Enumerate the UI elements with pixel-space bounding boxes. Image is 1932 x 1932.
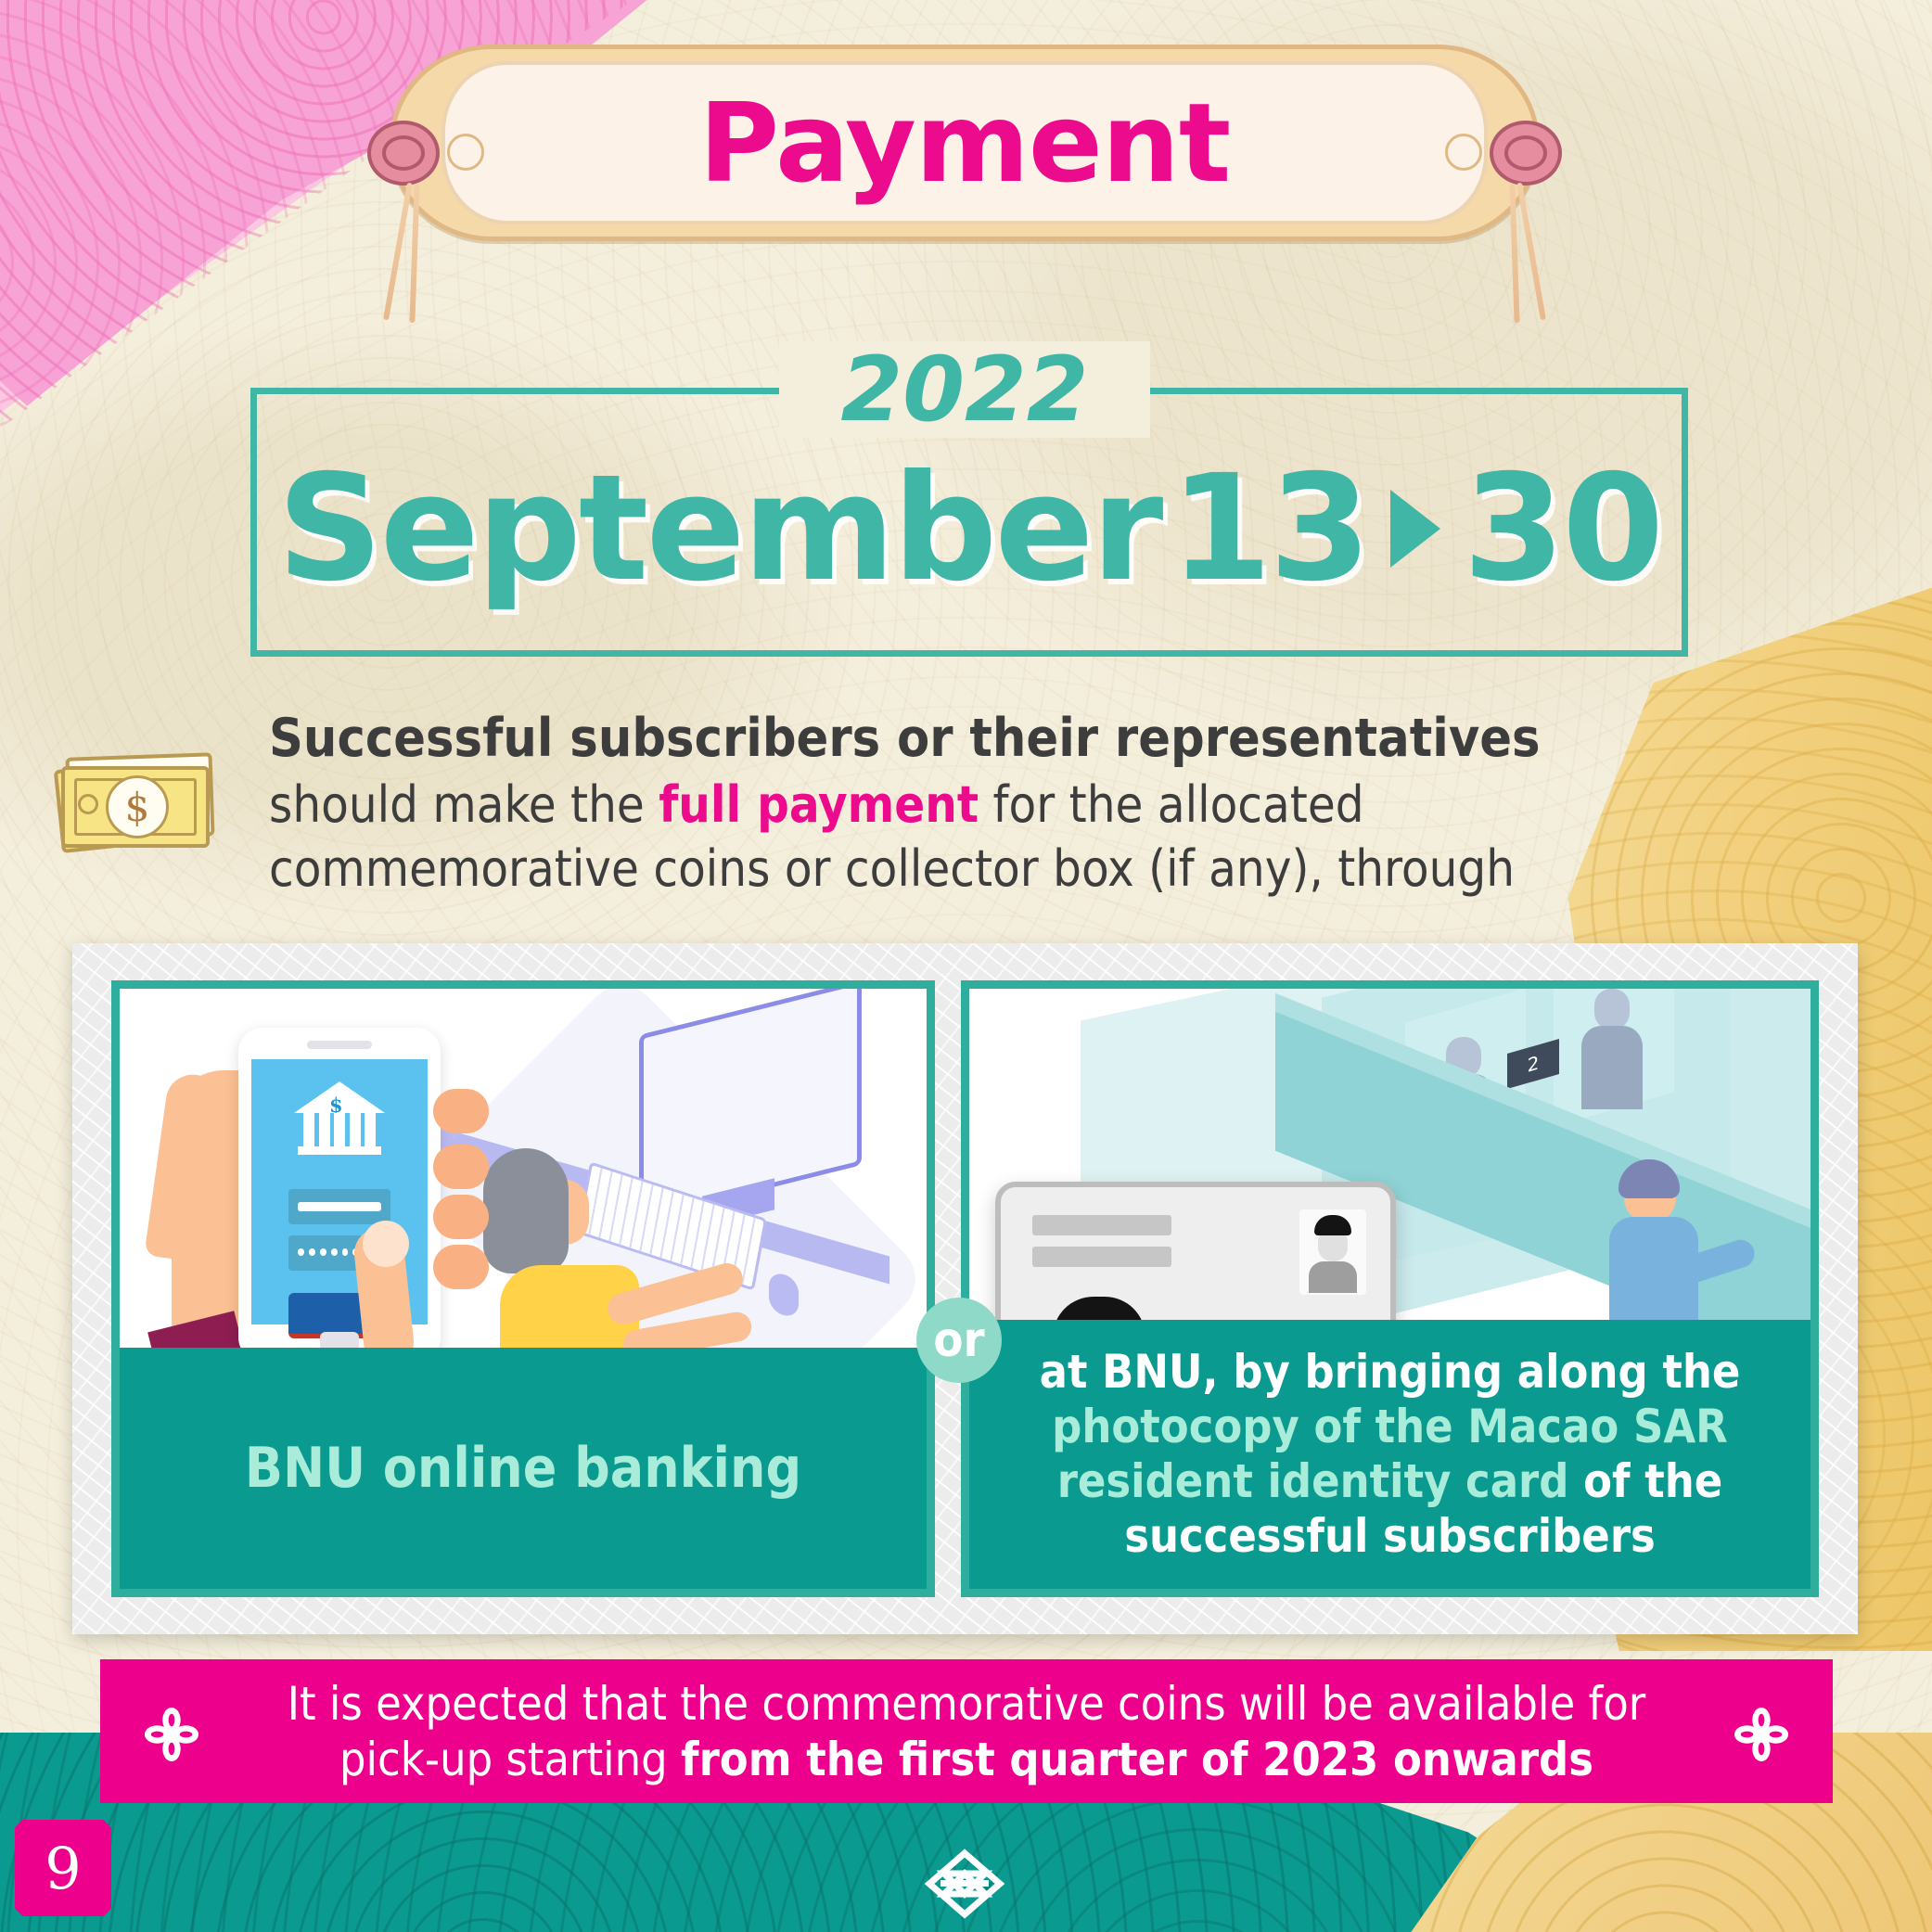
page-title: Payment xyxy=(390,45,1540,241)
username-field xyxy=(288,1189,390,1224)
option-right-caption-p3: successful subscribers xyxy=(1124,1509,1656,1563)
body-paragraph: Successful subscribers or their represen… xyxy=(269,705,1670,901)
notice-text: It is expected that the commemorative co… xyxy=(243,1676,1690,1787)
infographic-page: Payment 2022 September 13 30 $ Successfu… xyxy=(0,0,1932,1932)
option-right-caption-a2: resident identity card xyxy=(1057,1454,1569,1508)
full-payment-highlight: full payment xyxy=(659,775,979,834)
triangle-right-icon xyxy=(1390,490,1440,568)
paragraph-line-2-post: for the allocated xyxy=(979,775,1364,834)
option-right-caption-p2: of the xyxy=(1568,1454,1722,1508)
paragraph-line-2: should make the full payment for the all… xyxy=(269,773,1670,837)
paragraph-line-3: commemorative coins or collector box (if… xyxy=(269,837,1670,901)
notice-text-bold: from the first quarter of 2023 onwards xyxy=(681,1733,1593,1786)
bank-building-icon: $ xyxy=(294,1081,385,1158)
page-number-badge: 9 xyxy=(15,1820,111,1916)
option-left-caption: BNU online banking xyxy=(245,1436,801,1501)
option-right-caption-a1: photocopy of the Macao SAR xyxy=(1052,1400,1728,1453)
cash-banknotes-icon: $ xyxy=(52,742,210,844)
year-label: 2022 xyxy=(840,345,1088,434)
flower-ornament-icon-left xyxy=(143,1706,200,1763)
options-frame: $ BNU onlin xyxy=(72,943,1858,1634)
paragraph-line-1: Successful subscribers or their represen… xyxy=(269,705,1670,773)
month-label: September xyxy=(277,443,1161,614)
option-left-panel[interactable]: $ BNU onlin xyxy=(111,980,935,1597)
amcm-diamond-logo-icon xyxy=(918,1848,1011,1920)
flower-ornament-icon-right xyxy=(1733,1706,1790,1763)
title-plaque: Payment xyxy=(390,45,1540,241)
option-left-caption-bar: BNU online banking xyxy=(120,1348,927,1589)
end-day-label: 30 xyxy=(1463,443,1661,614)
option-right-caption-p1: at BNU, by bringing along the xyxy=(1040,1345,1741,1399)
year-label-wrap: 2022 xyxy=(779,341,1150,438)
or-divider-badge: or xyxy=(916,1298,1002,1383)
option-right-caption-bar: at BNU, by bringing along the photocopy … xyxy=(969,1320,1810,1589)
paragraph-line-2-pre: should make the xyxy=(269,775,659,834)
notice-banner: It is expected that the commemorative co… xyxy=(100,1659,1833,1803)
date-range: September 13 30 xyxy=(250,427,1688,631)
option-right-panel[interactable]: 1 2 xyxy=(961,980,1819,1597)
start-day-label: 13 xyxy=(1170,443,1368,614)
option-right-caption: at BNU, by bringing along the photocopy … xyxy=(1017,1345,1763,1564)
